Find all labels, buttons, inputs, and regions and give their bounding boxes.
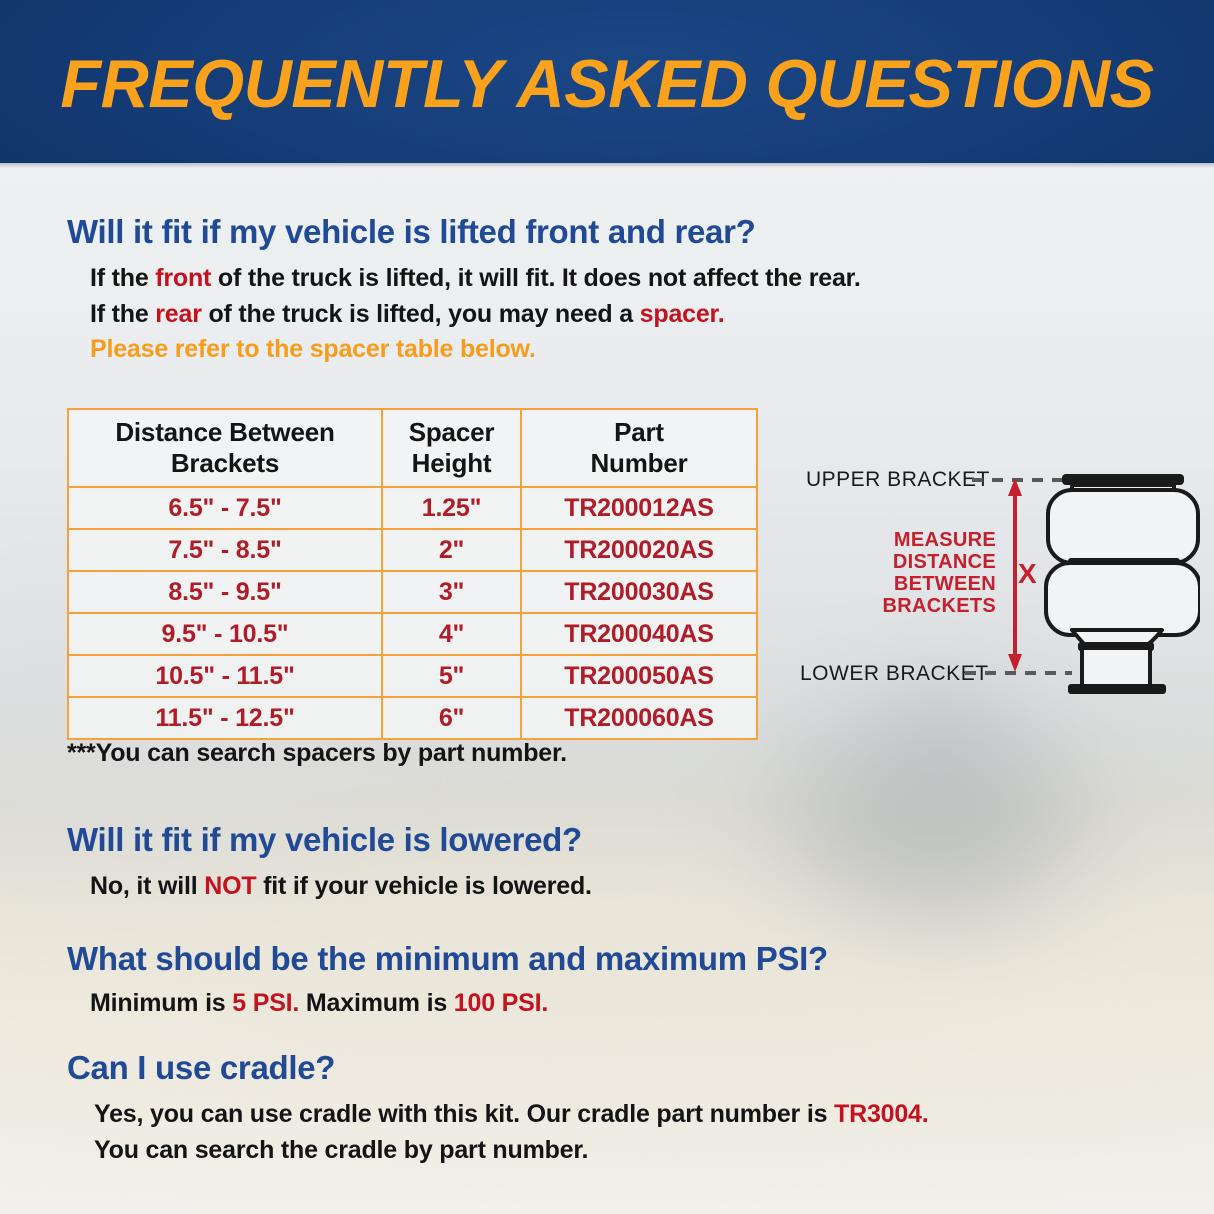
cell-spacer-height: 4": [382, 613, 521, 655]
answer-text-segment: fit if your vehicle is lowered.: [256, 872, 591, 900]
faq-question-psi: What should be the minimum and maximum P…: [67, 941, 828, 977]
faq-item-psi: What should be the minimum and maximum P…: [67, 941, 828, 1022]
header-line: Spacer: [383, 417, 520, 448]
cell-spacer-height: 3": [382, 571, 521, 613]
cell-distance: 10.5" - 11.5": [68, 655, 382, 697]
answer-line: Minimum is 5 PSI. Maximum is 100 PSI.: [90, 986, 828, 1022]
measure-distance-text: MEASURE DISTANCE BETWEEN BRACKETS: [882, 529, 996, 617]
header-line: Distance Between: [69, 417, 381, 448]
header-line: Part: [522, 417, 756, 448]
answer-line: You can search the cradle by part number…: [94, 1133, 929, 1169]
answer-highlight-front: front: [155, 264, 211, 292]
cell-spacer-height: 5": [382, 655, 521, 697]
base-mounting-plate: [1068, 684, 1166, 694]
answer-line: If the front of the truck is lifted, it …: [90, 261, 861, 297]
measure-line: DISTANCE: [893, 551, 996, 573]
column-header-part-number: Part Number: [521, 409, 757, 487]
cell-part-number: TR200030AS: [521, 571, 757, 613]
cell-part-number: TR200020AS: [521, 529, 757, 571]
table-row: 8.5" - 9.5" 3" TR200030AS: [68, 571, 757, 613]
answer-highlight-max-psi: 100 PSI.: [454, 989, 548, 1017]
table-row: 6.5" - 7.5" 1.25" TR200012AS: [68, 487, 757, 529]
answer-text-segment: of the truck is lifted, it will fit. It …: [211, 264, 860, 292]
header-line: Height: [383, 448, 520, 479]
answer-text-segment: of the truck is lifted, you may need a: [202, 300, 640, 328]
faq-item-lowered: Will it fit if my vehicle is lowered? No…: [67, 822, 592, 905]
faq-question-lifted: Will it fit if my vehicle is lifted fron…: [67, 214, 861, 250]
cell-part-number: TR200012AS: [521, 487, 757, 529]
faq-question-lowered: Will it fit if my vehicle is lowered?: [67, 822, 592, 858]
measure-line: MEASURE: [894, 529, 996, 551]
lower-bellow-lobe: [1046, 563, 1200, 635]
table-row: 7.5" - 8.5" 2" TR200020AS: [68, 529, 757, 571]
air-spring-illustration: UPPER BRACKET LOWER BRACKET MEASURE DIST…: [780, 450, 1200, 700]
table-row: 9.5" - 10.5" 4" TR200040AS: [68, 613, 757, 655]
spacer-table-head: Distance Between Brackets Spacer Height …: [68, 409, 757, 487]
answer-text-segment: If the: [90, 300, 155, 328]
answer-text-segment: Yes, you can use cradle with this kit. O…: [94, 1100, 834, 1128]
header-line: Number: [522, 448, 756, 479]
faq-answer-cradle: Yes, you can use cradle with this kit. O…: [67, 1097, 929, 1168]
answer-text-segment: No, it will: [90, 872, 204, 900]
cell-distance: 11.5" - 12.5": [68, 697, 382, 739]
lower-bracket-label-text: LOWER BRACKET: [800, 662, 989, 685]
bracket-measurement-diagram: UPPER BRACKET LOWER BRACKET MEASURE DIST…: [780, 450, 1200, 700]
cell-part-number: TR200040AS: [521, 613, 757, 655]
answer-text-segment: If the: [90, 264, 155, 292]
faq-answer-lowered: No, it will NOT fit if your vehicle is l…: [67, 869, 592, 905]
answer-highlight-not: NOT: [204, 872, 256, 900]
air-spring-graphic: [1046, 474, 1200, 694]
cell-part-number: TR200050AS: [521, 655, 757, 697]
answer-highlight-spacer: spacer.: [640, 300, 725, 328]
measure-line: BETWEEN: [894, 573, 996, 595]
faq-question-cradle: Can I use cradle?: [67, 1050, 929, 1086]
answer-line: Yes, you can use cradle with this kit. O…: [94, 1097, 929, 1133]
dimension-marker-x: X: [1018, 558, 1037, 589]
spacer-table-footnote: ***You can search spacers by part number…: [67, 739, 567, 768]
column-header-distance: Distance Between Brackets: [68, 409, 382, 487]
answer-line-refer-table: Please refer to the spacer table below.: [90, 332, 861, 368]
cell-spacer-height: 6": [382, 697, 521, 739]
faq-answer-psi: Minimum is 5 PSI. Maximum is 100 PSI.: [67, 986, 828, 1022]
cell-part-number: TR200060AS: [521, 697, 757, 739]
answer-line: If the rear of the truck is lifted, you …: [90, 297, 861, 333]
column-header-spacer-height: Spacer Height: [382, 409, 521, 487]
upper-bracket-label-text: UPPER BRACKET: [806, 468, 990, 491]
faq-infographic: FREQUENTLY ASKED QUESTIONS Will it fit i…: [0, 0, 1214, 1214]
table-row: 10.5" - 11.5" 5" TR200050AS: [68, 655, 757, 697]
faq-item-cradle: Can I use cradle? Yes, you can use cradl…: [67, 1050, 929, 1168]
answer-text-segment: Minimum is: [90, 989, 232, 1017]
cell-spacer-height: 2": [382, 529, 521, 571]
faq-answer-lifted: If the front of the truck is lifted, it …: [67, 261, 861, 368]
answer-line: No, it will NOT fit if your vehicle is l…: [90, 869, 592, 905]
answer-highlight-min-psi: 5 PSI.: [232, 989, 299, 1017]
cell-distance: 8.5" - 9.5": [68, 571, 382, 613]
table-header-row: Distance Between Brackets Spacer Height …: [68, 409, 757, 487]
faq-item-lifted: Will it fit if my vehicle is lifted fron…: [67, 214, 861, 368]
faq-content: Will it fit if my vehicle is lifted fron…: [0, 0, 1214, 1214]
spacer-table-body: 6.5" - 7.5" 1.25" TR200012AS 7.5" - 8.5"…: [68, 487, 757, 739]
cell-distance: 7.5" - 8.5": [68, 529, 382, 571]
cell-spacer-height: 1.25": [382, 487, 521, 529]
measure-line: BRACKETS: [882, 595, 996, 617]
cell-distance: 6.5" - 7.5": [68, 487, 382, 529]
header-line: Brackets: [69, 448, 381, 479]
table-row: 11.5" - 12.5" 6" TR200060AS: [68, 697, 757, 739]
answer-highlight-cradle-part: TR3004.: [834, 1100, 929, 1128]
answer-text-segment: Maximum is: [299, 989, 454, 1017]
arrow-head-down: [1008, 654, 1022, 672]
answer-highlight-rear: rear: [155, 300, 201, 328]
spacer-table: Distance Between Brackets Spacer Height …: [67, 408, 758, 740]
cell-distance: 9.5" - 10.5": [68, 613, 382, 655]
upper-bellow-lobe: [1048, 490, 1198, 563]
